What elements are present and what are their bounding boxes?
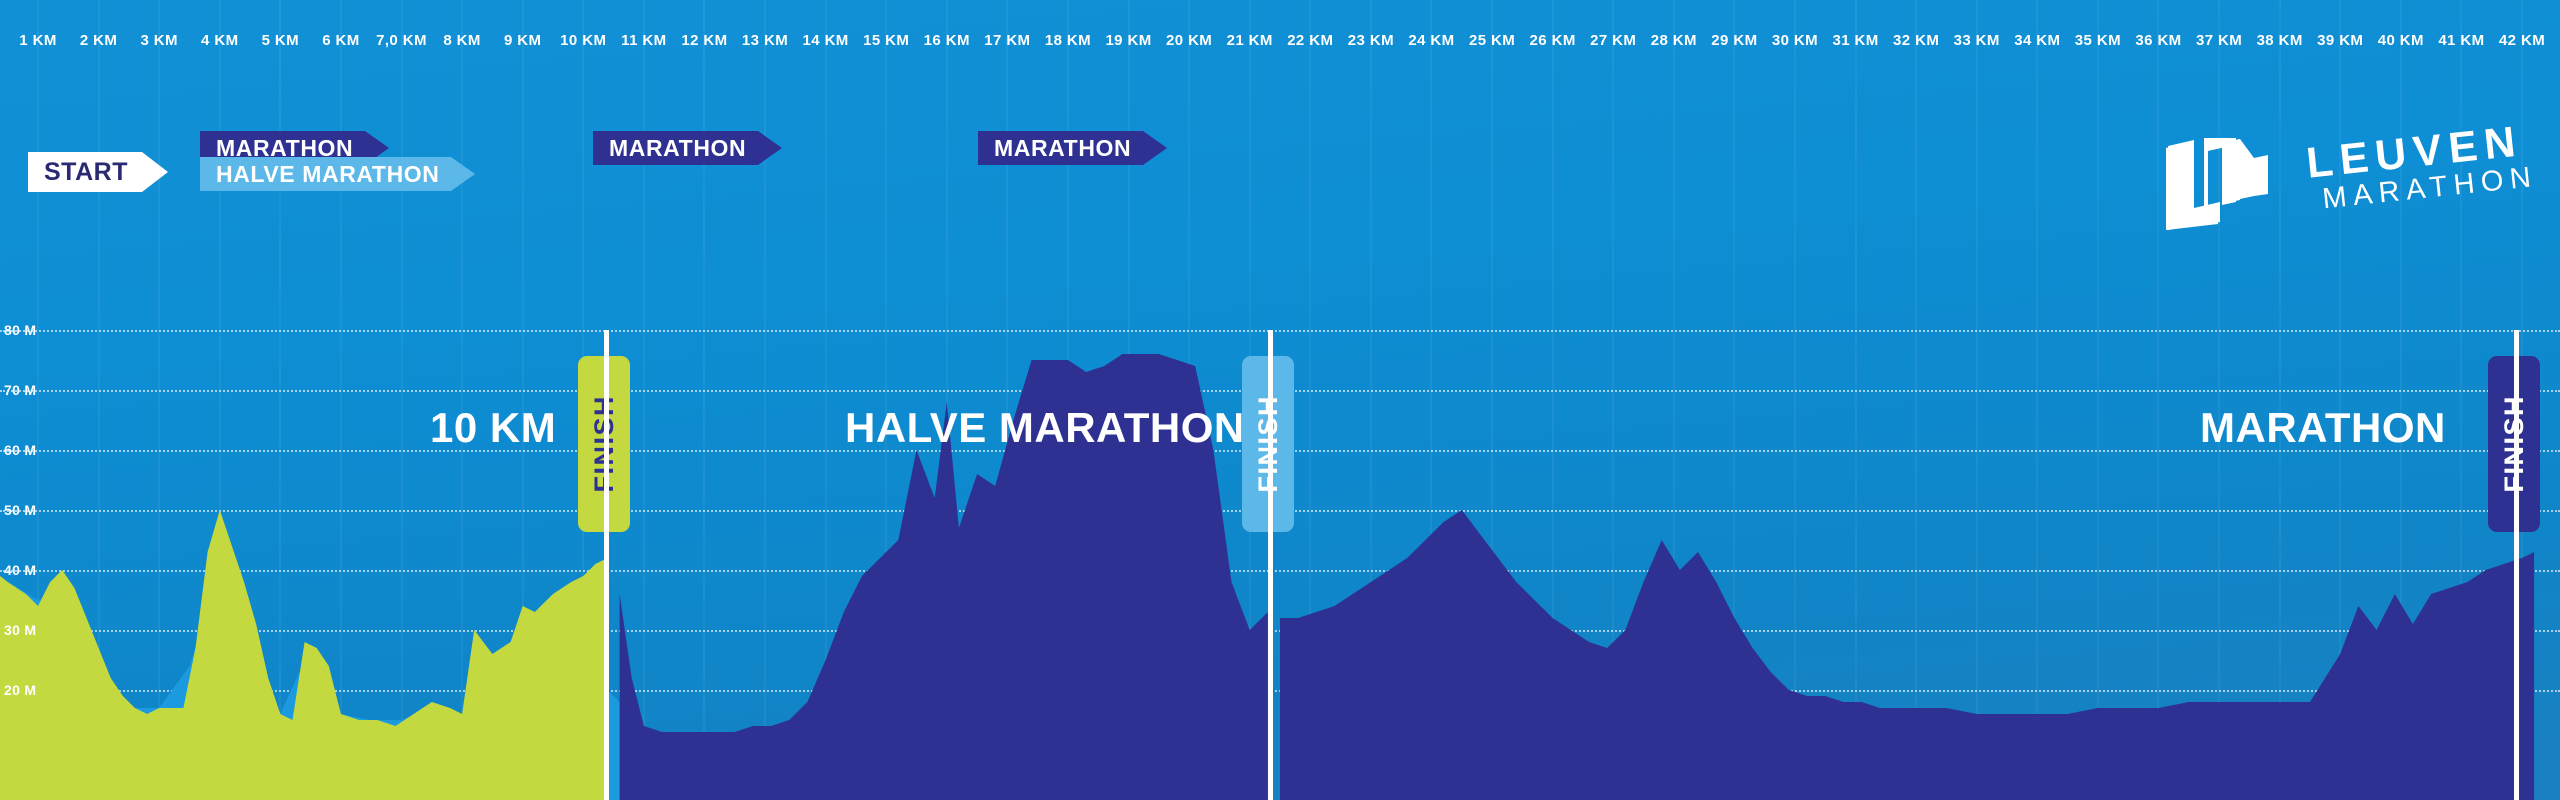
lm-monogram-icon bbox=[2164, 138, 2282, 230]
start-badge: START bbox=[28, 152, 168, 192]
elevation-tick-label: 80 M bbox=[4, 322, 36, 338]
elevation-tick-label: 30 M bbox=[4, 622, 36, 638]
route-banner-arrow-icon bbox=[1143, 131, 1167, 165]
route-banner-label: MARATHON bbox=[593, 131, 758, 165]
route-banner: MARATHON bbox=[978, 131, 1167, 165]
elevation-tick-label: 40 M bbox=[4, 562, 36, 578]
elevation-tick-label: 50 M bbox=[4, 502, 36, 518]
route-banner-label: MARATHON bbox=[978, 131, 1143, 165]
profile-area-10-km bbox=[0, 510, 607, 800]
start-label: START bbox=[28, 152, 142, 192]
finish-pole bbox=[1268, 330, 1273, 800]
elevation-tick-label: 70 M bbox=[4, 382, 36, 398]
race-title-half-marathon: HALVE MARATHON bbox=[845, 404, 1245, 452]
finish-pole bbox=[2514, 330, 2519, 800]
profile-area-marathon bbox=[1280, 510, 2534, 800]
route-banner-arrow-icon bbox=[758, 131, 782, 165]
elevation-profile-poster: 1 KM2 KM3 KM4 KM5 KM6 KM7,0 KM8 KM9 KM10… bbox=[0, 0, 2560, 800]
race-title-marathon: MARATHON bbox=[2200, 404, 2446, 452]
route-banner-label: HALVE MARATHON bbox=[200, 157, 451, 191]
route-banner-arrow-icon bbox=[451, 157, 475, 191]
elevation-tick-label: 60 M bbox=[4, 442, 36, 458]
route-banner: HALVE MARATHON bbox=[200, 157, 475, 191]
start-arrow-icon bbox=[142, 152, 168, 192]
elevation-tick-label: 20 M bbox=[4, 682, 36, 698]
race-title-10km: 10 KM bbox=[430, 404, 556, 452]
finish-pole bbox=[604, 330, 609, 800]
leuven-marathon-logo: LEUVEN MARATHON bbox=[2164, 138, 2532, 230]
route-banner: MARATHON bbox=[593, 131, 782, 165]
